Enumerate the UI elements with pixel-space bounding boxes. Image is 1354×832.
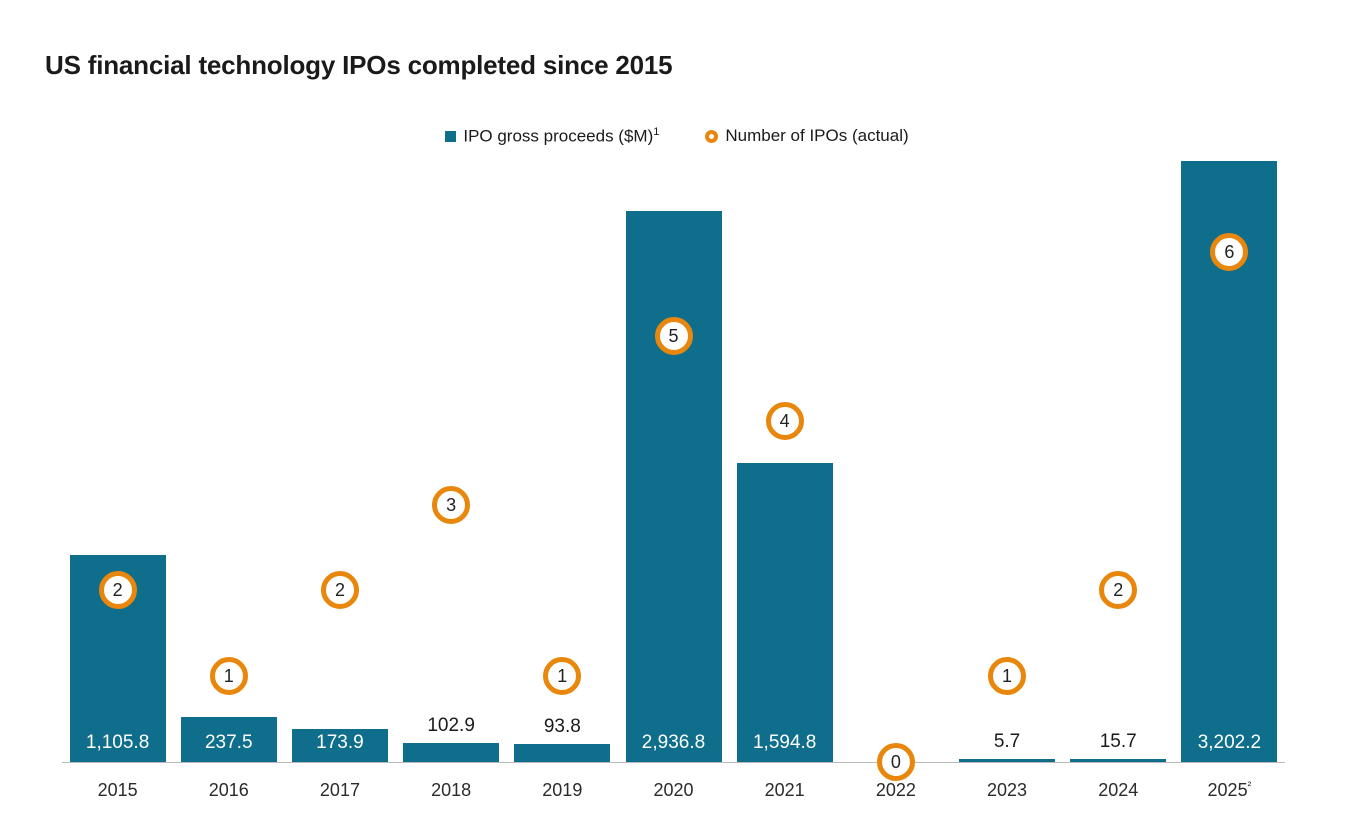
x-label-superscript: ² <box>1248 780 1252 792</box>
legend-label-proceeds-text: IPO gross proceeds ($M) <box>463 127 653 146</box>
bar-2018[interactable] <box>403 743 499 762</box>
ipo-count-marker-2020[interactable]: 5 <box>655 317 693 355</box>
bar-value-label-2020: 2,936.8 <box>626 732 722 754</box>
bar-value-label-2016: 237.5 <box>181 732 277 754</box>
bar-value-label-2015: 1,105.8 <box>70 732 166 754</box>
bar-2021[interactable] <box>737 463 833 762</box>
bar-value-label-2018: 102.9 <box>397 715 505 737</box>
x-axis-label-2017: 2017 <box>284 780 395 801</box>
x-axis-label-2023: 2023 <box>951 780 1062 801</box>
bar-value-label-2024: 15.7 <box>1064 731 1172 753</box>
legend-label-count: Number of IPOs (actual) <box>725 126 908 146</box>
bar-value-label-2019: 93.8 <box>508 716 616 738</box>
ipo-count-marker-2015[interactable]: 2 <box>99 571 137 609</box>
x-axis-label-2020: 2020 <box>618 780 729 801</box>
legend-item-proceeds[interactable]: IPO gross proceeds ($M)1 <box>445 126 659 147</box>
legend-ring-icon <box>705 130 718 143</box>
ipo-count-marker-2023[interactable]: 1 <box>988 657 1026 695</box>
chart-container: US financial technology IPOs completed s… <box>0 0 1354 832</box>
legend-square-icon <box>445 131 456 142</box>
ipo-count-marker-2025[interactable]: 6 <box>1210 233 1248 271</box>
bar-2019[interactable] <box>514 744 610 762</box>
x-axis-label-2018: 2018 <box>396 780 507 801</box>
x-label-text: 2025 <box>1208 780 1248 800</box>
bar-value-label-2025: 3,202.2 <box>1181 732 1277 754</box>
ipo-count-marker-2017[interactable]: 2 <box>321 571 359 609</box>
x-axis-label-2025: 2025² <box>1174 780 1285 801</box>
ipo-count-marker-2019[interactable]: 1 <box>543 657 581 695</box>
x-axis-label-2022: 2022 <box>840 780 951 801</box>
bar-value-label-2023: 5.7 <box>953 731 1061 753</box>
bar-2020[interactable] <box>626 211 722 762</box>
x-axis-line <box>62 762 1285 763</box>
ipo-count-marker-2021[interactable]: 4 <box>766 402 804 440</box>
x-axis-label-2015: 2015 <box>62 780 173 801</box>
x-axis-label-2016: 2016 <box>173 780 284 801</box>
legend-label-proceeds-superscript: 1 <box>653 126 659 138</box>
chart-legend: IPO gross proceeds ($M)1 Number of IPOs … <box>0 126 1354 147</box>
ipo-count-marker-2018[interactable]: 3 <box>432 486 470 524</box>
bar-value-label-2017: 173.9 <box>292 732 388 754</box>
x-axis-labels: 2015201620172018201920202021202220232024… <box>62 780 1285 820</box>
legend-item-count[interactable]: Number of IPOs (actual) <box>705 126 908 146</box>
ipo-count-marker-2016[interactable]: 1 <box>210 657 248 695</box>
ipo-count-marker-2022[interactable]: 0 <box>877 743 915 781</box>
x-axis-label-2021: 2021 <box>729 780 840 801</box>
x-axis-label-2024: 2024 <box>1063 780 1174 801</box>
ipo-count-marker-2024[interactable]: 2 <box>1099 571 1137 609</box>
bar-value-label-2021: 1,594.8 <box>737 732 833 754</box>
x-axis-label-2019: 2019 <box>507 780 618 801</box>
chart-title: US financial technology IPOs completed s… <box>45 50 672 81</box>
legend-label-proceeds: IPO gross proceeds ($M)1 <box>463 126 659 147</box>
